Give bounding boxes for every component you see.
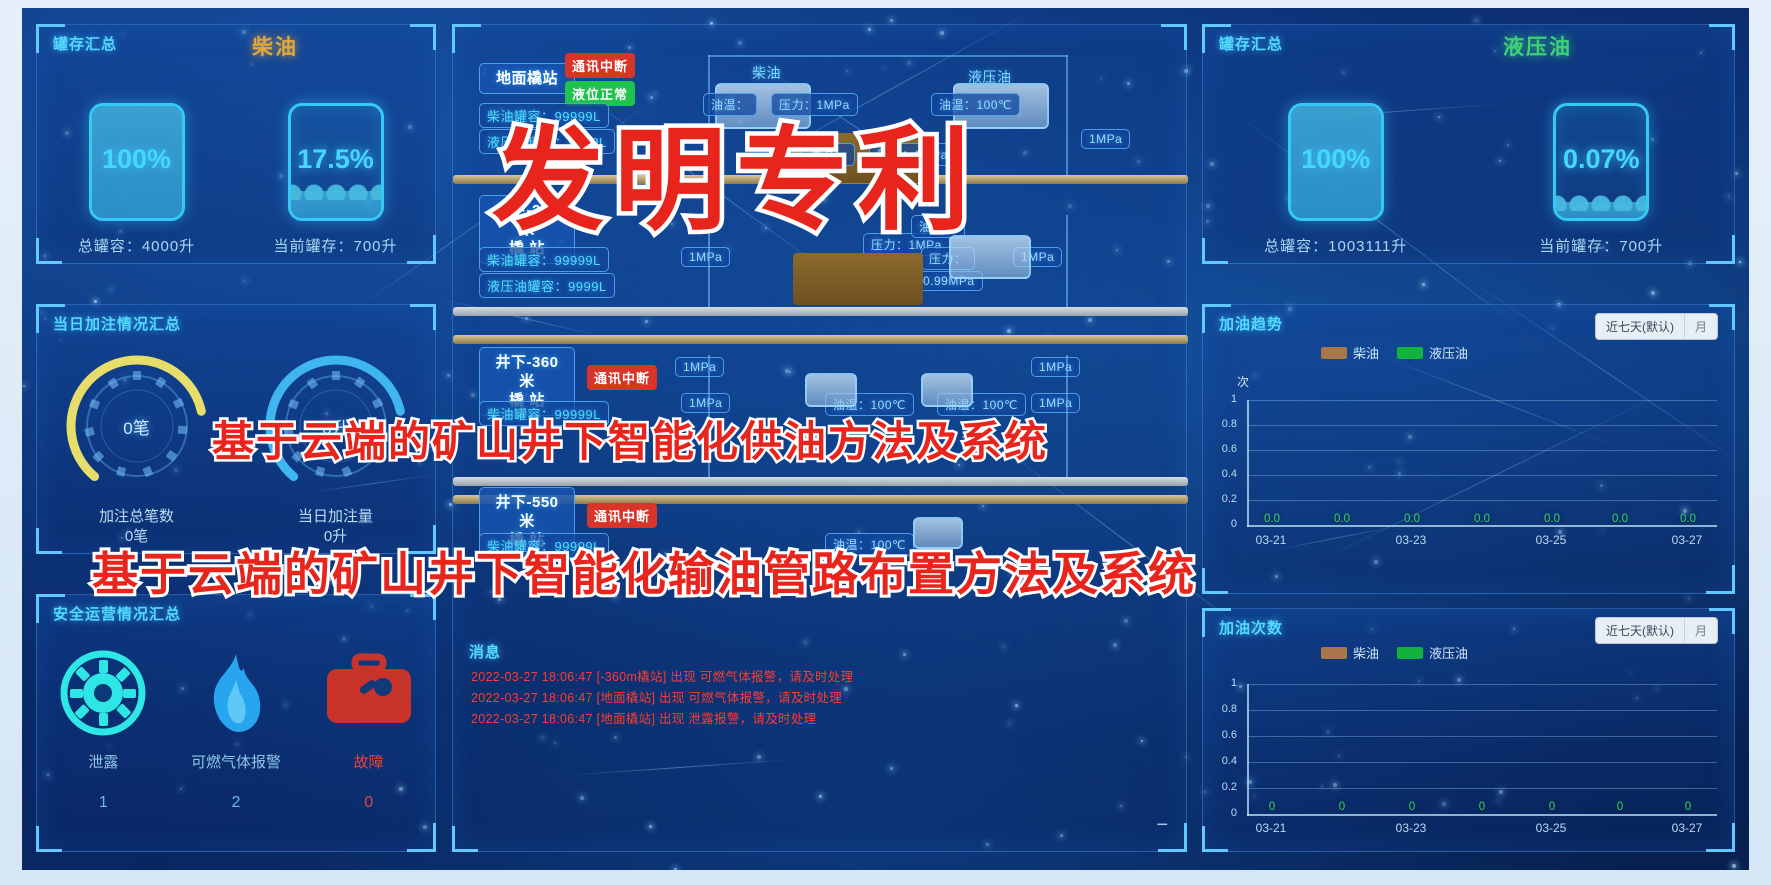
count-point-label: 0 <box>1603 801 1637 813</box>
trend-grid <box>1247 400 1717 401</box>
count-grid <box>1247 710 1717 711</box>
count-xtick: 03-23 <box>1383 821 1439 835</box>
safety-item-fault: 故障 0 <box>302 647 435 812</box>
message-panel-title: 消息 <box>469 641 501 662</box>
message-list: 2022-03-27 18:06:47 [-360m橇站] 出现 可燃气体报警，… <box>471 667 1172 730</box>
riser-l2b <box>1066 215 1068 307</box>
count-grid <box>1247 788 1717 789</box>
trend-grid <box>1247 425 1717 426</box>
tank-visual: 0.07% <box>1553 103 1649 221</box>
toolbox-icon <box>323 647 415 739</box>
tank-percent: 100% <box>1291 144 1381 175</box>
station-badge-comm-3: 通讯中断 <box>587 503 657 528</box>
left-tank-gauges: . 100% 总罐容：4000升 . 17.5% 当前罐存：700升 <box>37 71 435 256</box>
trend-x-axis <box>1247 525 1717 527</box>
trend-xtick: 03-21 <box>1243 533 1299 547</box>
count-point-label: 0 <box>1671 801 1705 813</box>
trend-ytick: 0.2 <box>1209 493 1237 505</box>
dial-caption-line1: 当日加注量 <box>298 507 373 527</box>
right-tank-gauges: . 100% 总罐容：1003111升 . 0.07% 当前罐存：700升 <box>1203 71 1734 256</box>
label-hydraulic-top: 液压油 <box>961 65 1019 89</box>
count-grid <box>1247 684 1717 685</box>
tank-fill <box>1556 202 1646 218</box>
tank-gauge: . 100% 总罐容：1003111升 <box>1203 71 1469 256</box>
left-tank-panel-title: 罐存汇总 <box>53 33 117 54</box>
trend-ytick: 1 <box>1209 393 1237 405</box>
screenshot-root: 罐存汇总 柴油 . 100% 总罐容：4000升 . 17.5% <box>0 0 1771 885</box>
count-point-label: 0 <box>1465 801 1499 813</box>
count-point-label: 0 <box>1325 801 1359 813</box>
station-badge-comm-0: 通讯中断 <box>565 53 635 78</box>
right-product-label: 液压油 <box>1503 31 1572 57</box>
count-chart: 1 0.8 0.6 0.4 0.2 0 0 0 0 0 0 0 0 <box>1203 609 1736 853</box>
safety-label: 可燃气体报警 <box>191 751 281 772</box>
right-trend-panel: 加油趋势 近七天(默认) 月 柴油 液压油 次 1 <box>1202 304 1735 594</box>
corner-decor <box>36 826 62 852</box>
count-ytick: 0.4 <box>1209 755 1237 767</box>
count-point-label: 0 <box>1255 801 1289 813</box>
trend-point-label: 0.0 <box>1395 513 1429 525</box>
tank-fill <box>291 191 381 218</box>
safety-item-gas: 可燃气体报警 2 <box>170 647 303 812</box>
message-row: 2022-03-27 18:06:47 [地面橇站] 出现 可燃气体报警，请及时… <box>471 688 1172 709</box>
safety-count: 2 <box>232 794 241 812</box>
dial-value: 0笔 <box>62 351 212 501</box>
dial-visual: 0笔 <box>62 351 212 501</box>
gear-icon <box>60 647 146 739</box>
trend-xtick: 03-23 <box>1383 533 1439 547</box>
left-safety-panel: 安全运营情况汇总 <box>36 594 436 852</box>
tank-gauge: . 0.07% 当前罐存：700升 <box>1469 71 1735 256</box>
count-point-label: 0 <box>1535 801 1569 813</box>
count-ytick: 0 <box>1209 807 1237 819</box>
safety-label: 故障 <box>354 751 384 772</box>
oil-pool-mid <box>793 253 923 305</box>
trend-ytick: 0.8 <box>1209 418 1237 430</box>
trend-grid <box>1247 450 1717 451</box>
station-badge-comm-2: 通讯中断 <box>587 365 657 390</box>
vessel-l3b <box>921 373 973 407</box>
dashboard-screen: 罐存汇总 柴油 . 100% 总罐容：4000升 . 17.5% <box>22 8 1749 870</box>
trend-grid <box>1247 500 1717 501</box>
trend-grid <box>1247 475 1717 476</box>
trend-point-label: 0.0 <box>1535 513 1569 525</box>
mpa-tag-0: 1MPa <box>1081 129 1130 149</box>
tank-gauge: . 100% 总罐容：4000升 <box>37 71 236 256</box>
left-product-label: 柴油 <box>252 31 298 57</box>
trend-ytick: 0 <box>1209 518 1237 530</box>
message-row: 2022-03-27 18:06:47 [地面橇站] 出现 泄露报警，请及时处理 <box>471 709 1172 730</box>
trend-ytick: 0.6 <box>1209 443 1237 455</box>
vessel-l3a <box>805 373 857 407</box>
riser-l3b <box>1066 355 1068 477</box>
minus-icon[interactable]: − <box>1156 814 1168 837</box>
overlay-title-line-1: 基于云端的矿山井下智能化供油方法及系统 <box>212 408 1048 469</box>
corner-decor <box>410 304 436 330</box>
count-y-axis <box>1247 684 1249 816</box>
corner-decor <box>1709 24 1735 50</box>
left-safety-panel-title: 安全运营情况汇总 <box>53 603 181 624</box>
count-grid <box>1247 762 1717 763</box>
safety-count: 0 <box>364 794 373 812</box>
corner-decor <box>1161 24 1187 50</box>
safety-item-leak: 泄露 1 <box>37 647 170 812</box>
overlay-title-line-2: 基于云端的矿山井下智能化输油管路布置方法及系统 <box>92 538 1196 604</box>
safety-count: 1 <box>99 794 108 812</box>
trend-chart: 次 1 0.8 0.6 0.4 0.2 0 0.0 0.0 0.0 0.0 <box>1203 305 1736 595</box>
safety-items: 泄露 1 可燃气体报警 2 <box>37 647 435 812</box>
tank-percent: 0.07% <box>1556 144 1646 175</box>
count-grid <box>1247 736 1717 737</box>
tank-footer: 当前罐存：700升 <box>273 235 397 256</box>
dial-caption-line1: 加注总笔数 <box>99 507 174 527</box>
trend-point-label: 0.0 <box>1255 513 1289 525</box>
left-daily-panel-title: 当日加注情况汇总 <box>53 313 181 334</box>
trend-point-label: 0.0 <box>1603 513 1637 525</box>
tank-footer: 当前罐存：700升 <box>1539 235 1663 256</box>
corner-decor <box>410 24 436 50</box>
tank-footer: 总罐容：1003111升 <box>1264 235 1407 256</box>
flame-icon <box>200 647 272 739</box>
overlay-patent-badge: 发明专利 <box>492 90 980 252</box>
trend-point-label: 0.0 <box>1325 513 1359 525</box>
label-diesel-top: 柴油 <box>745 61 788 85</box>
tank-visual: 100% <box>89 103 185 221</box>
dial-gauge: 0笔 加注总笔数 0笔 <box>37 351 236 547</box>
trend-xtick: 03-27 <box>1659 533 1715 547</box>
header-line <box>708 55 1068 57</box>
count-xtick: 03-21 <box>1243 821 1299 835</box>
pipe-level-2b <box>453 335 1188 344</box>
count-ytick: 0.6 <box>1209 729 1237 741</box>
count-point-label: 0 <box>1395 801 1429 813</box>
count-x-axis <box>1247 814 1717 816</box>
trend-point-label: 0.0 <box>1671 513 1705 525</box>
pipe-level-3 <box>453 477 1188 486</box>
count-ytick: 0.2 <box>1209 781 1237 793</box>
safety-label: 泄露 <box>88 751 118 772</box>
message-row: 2022-03-27 18:06:47 [-360m橇站] 出现 可燃气体报警，… <box>471 667 1172 688</box>
tank-visual: 100% <box>1288 103 1384 221</box>
trend-ytick: 0.4 <box>1209 468 1237 480</box>
tank-gauge: . 17.5% 当前罐存：700升 <box>236 71 435 256</box>
count-ytick: 1 <box>1209 677 1237 689</box>
right-tank-panel: 罐存汇总 液压油 . 100% 总罐容：1003111升 . 0.07% <box>1202 24 1735 264</box>
mpa-tag-3: 1MPa <box>675 357 724 377</box>
count-ytick: 0.8 <box>1209 703 1237 715</box>
trend-y-unit: 次 <box>1237 373 1249 390</box>
left-tank-panel: 罐存汇总 柴油 . 100% 总罐容：4000升 . 17.5% <box>36 24 436 264</box>
tank-visual: 17.5% <box>288 103 384 221</box>
right-count-panel: 加油次数 近七天(默认) 月 柴油 液压油 1 0.8 <box>1202 608 1735 852</box>
station-capacity-1-hydraulic: 液压油罐容：9999L <box>479 273 615 298</box>
message-region: 消息 2022-03-27 18:06:47 [-360m橇站] 出现 可燃气体… <box>453 633 1186 851</box>
trend-point-label: 0.0 <box>1465 513 1499 525</box>
trend-y-axis <box>1247 400 1249 527</box>
count-xtick: 03-27 <box>1659 821 1715 835</box>
tank-percent: 17.5% <box>291 144 381 175</box>
riser-line <box>1066 55 1068 175</box>
count-xtick: 03-25 <box>1523 821 1579 835</box>
mpa-tag-4: 1MPa <box>1031 357 1080 377</box>
tank-footer: 总罐容：4000升 <box>78 235 195 256</box>
tank-percent: 100% <box>92 144 182 175</box>
right-tank-panel-title: 罐存汇总 <box>1219 33 1283 54</box>
pipe-level-2 <box>453 307 1188 316</box>
trend-xtick: 03-25 <box>1523 533 1579 547</box>
